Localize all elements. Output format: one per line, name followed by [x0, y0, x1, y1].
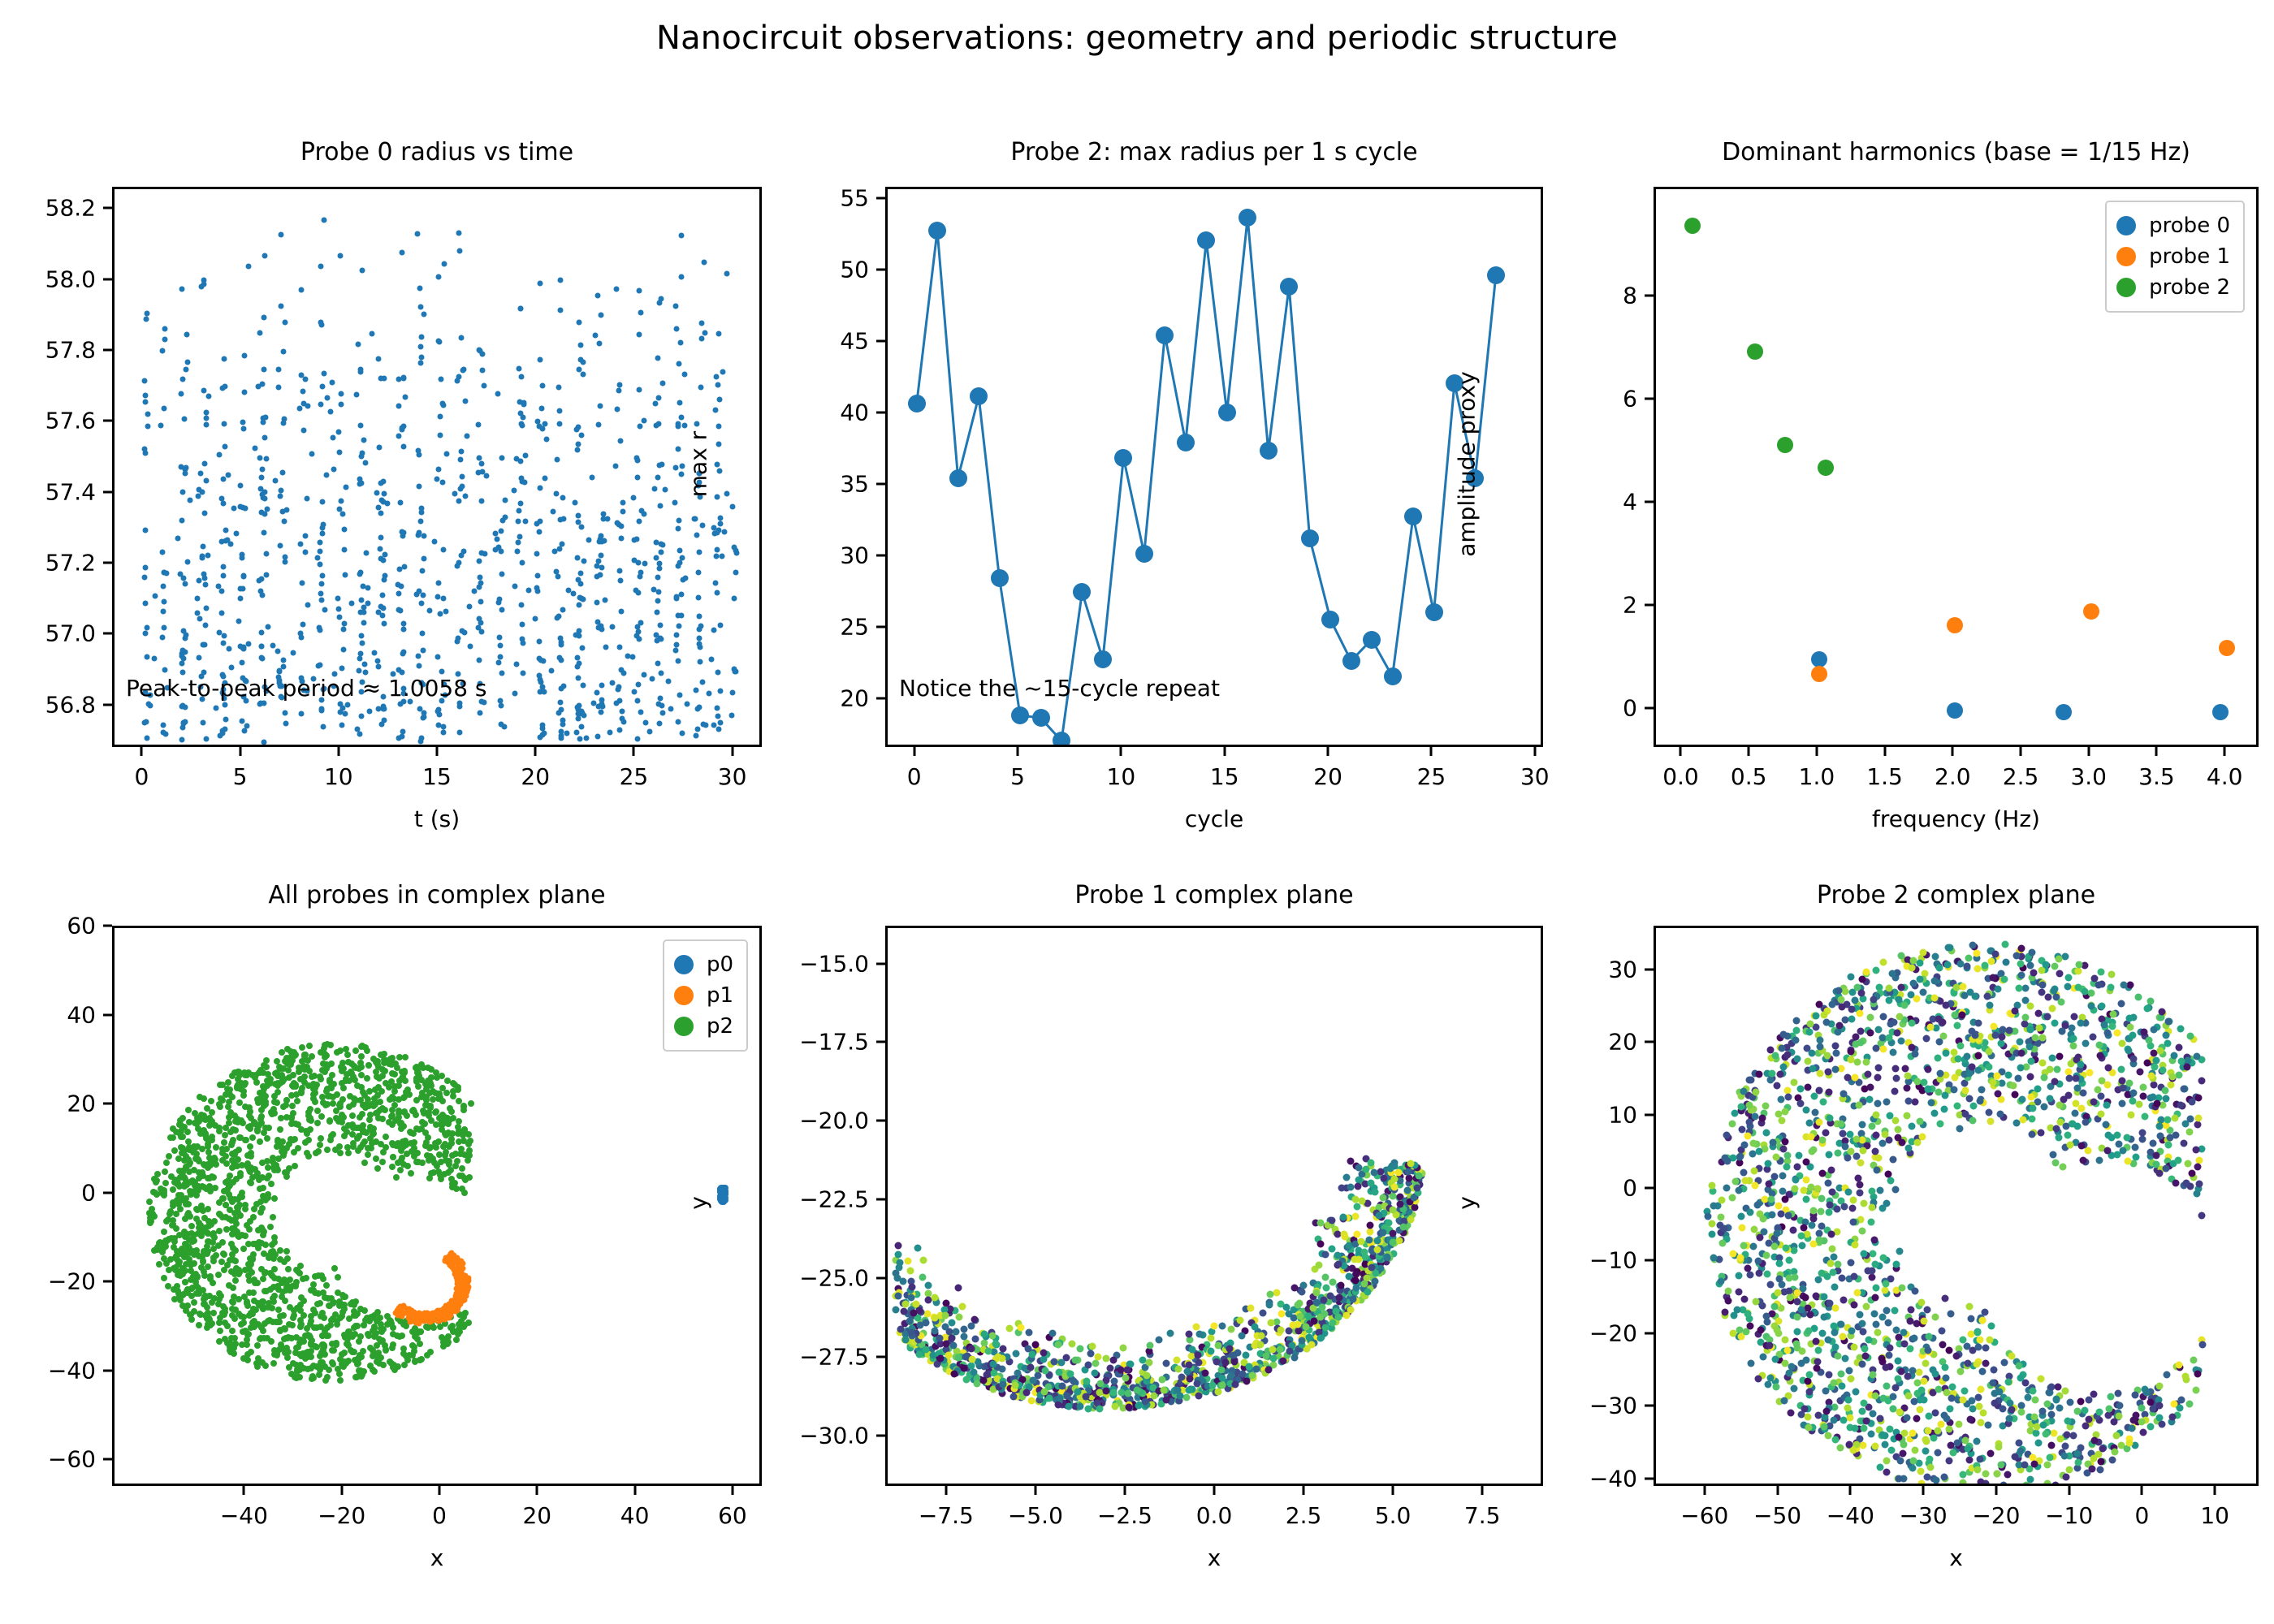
panel-title-probe2-complex-plane: Probe 2 complex plane	[1654, 881, 2259, 909]
annotation-text-probe0-radius-vs-time: Peak-to-peak period ≈ 1.0058 s	[126, 675, 487, 702]
data-point	[1979, 1367, 1987, 1375]
data-point	[2140, 1093, 2147, 1100]
data-point	[1868, 1431, 1875, 1438]
data-point	[2095, 1157, 2103, 1164]
data-point	[1859, 996, 1866, 1003]
data-point	[1805, 1120, 1813, 1127]
data-point	[1728, 1121, 1736, 1128]
legend-item[interactable]: probe 0	[2116, 210, 2230, 241]
data-point	[1935, 1449, 1942, 1456]
data-point	[1814, 1347, 1822, 1354]
data-point	[2056, 1405, 2064, 1412]
legend-label: p0	[707, 952, 733, 977]
data-point	[2037, 1375, 2044, 1382]
legend-item[interactable]: p1	[674, 980, 733, 1011]
data-point	[1884, 1170, 1891, 1177]
data-point	[2117, 1066, 2125, 1073]
data-point	[1974, 965, 1981, 972]
data-point	[1723, 1185, 1730, 1192]
data-point	[1931, 953, 1939, 961]
data-point	[1870, 1250, 1877, 1258]
data-point	[2096, 1466, 2103, 1473]
data-point	[2049, 1054, 2056, 1061]
data-point	[2198, 1212, 2205, 1219]
plot-area-probe2-complex-plane	[1654, 926, 2259, 1486]
data-point	[1718, 1214, 1725, 1221]
figure-root: Nanocircuit observations: geometry and p…	[0, 0, 2274, 1624]
data-point	[2015, 1484, 2022, 1486]
data-point	[1876, 1463, 1883, 1471]
legend-item[interactable]: probe 1	[2116, 241, 2230, 272]
data-point	[2086, 1396, 2093, 1403]
legend-label: p1	[707, 983, 733, 1008]
data-point	[1834, 1260, 1841, 1268]
data-point	[2150, 1140, 2157, 1147]
data-point	[2128, 1111, 2135, 1118]
panel-probe2-complex-plane: Probe 2 complex plane−40−30−20−100102030…	[0, 0, 2274, 1624]
data-point	[2056, 1053, 2063, 1060]
data-point	[2070, 1013, 2077, 1021]
legend-marker-icon	[2116, 216, 2136, 235]
legend-item[interactable]: p2	[674, 1011, 733, 1042]
legend-dominant-harmonics[interactable]: probe 0probe 1probe 2	[2105, 201, 2245, 313]
data-point	[1803, 1176, 1810, 1183]
data-point	[2181, 1140, 2188, 1147]
data-point	[1826, 1371, 1833, 1379]
data-point	[1874, 1328, 1882, 1336]
data-point	[2156, 1382, 2164, 1389]
data-point	[1891, 1307, 1899, 1315]
data-point	[2050, 1151, 2057, 1159]
legend-all-probes-complex-plane[interactable]: p0p1p2	[663, 939, 748, 1052]
data-point	[1879, 959, 1887, 966]
data-point	[2048, 1004, 2056, 1012]
data-point	[1883, 1307, 1891, 1315]
legend-marker-icon	[2116, 247, 2136, 266]
legend-item[interactable]: probe 2	[2116, 272, 2230, 303]
data-point	[1872, 1284, 1879, 1291]
data-point	[1847, 1259, 1854, 1266]
legend-label: p2	[707, 1014, 733, 1039]
legend-item[interactable]: p0	[674, 949, 733, 980]
data-point	[1966, 1457, 1974, 1464]
legend-marker-icon	[674, 1017, 694, 1036]
legend-label: probe 2	[2149, 275, 2230, 300]
data-point	[2002, 958, 2009, 965]
legend-marker-icon	[2116, 278, 2136, 297]
legend-marker-icon	[674, 955, 694, 974]
annotation-text-probe2-max-radius-per-cycle: Notice the ~15-cycle repeat	[899, 675, 1220, 702]
data-point	[1922, 1360, 1930, 1367]
data-point	[1772, 1052, 1779, 1060]
legend-marker-icon	[674, 986, 694, 1005]
data-point	[2032, 1396, 2039, 1403]
data-point	[1785, 1257, 1792, 1264]
legend-label: probe 1	[2149, 244, 2230, 269]
data-point	[1863, 1302, 1870, 1310]
data-point	[1922, 1034, 1930, 1042]
data-point	[1869, 1122, 1876, 1129]
data-point	[2090, 974, 2098, 982]
data-point	[1852, 1388, 1860, 1395]
legend-label: probe 0	[2149, 214, 2230, 238]
data-point	[2015, 1075, 2022, 1082]
